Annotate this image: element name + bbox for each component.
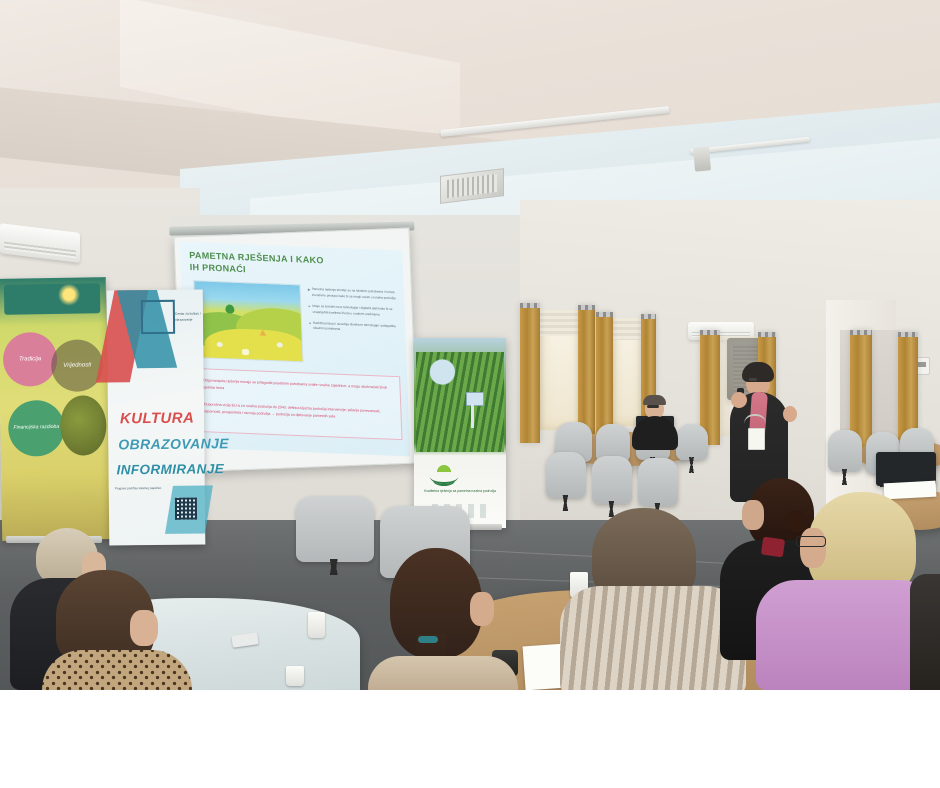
papers (884, 481, 937, 500)
banner-keyword: OBRAZOVANJE (118, 435, 229, 452)
chair[interactable] (828, 430, 862, 472)
slide-bullet: Mogu se koristiti nove tehnologije i dig… (308, 303, 397, 318)
projected-slide: PAMETNA RJEŠENJA I KAKO IH PRONAĆI Pamet… (180, 242, 410, 457)
lanyard (761, 537, 785, 558)
paper-cup (286, 666, 304, 686)
chair[interactable] (676, 424, 708, 460)
poster-blob: Financijska razdioba (8, 400, 65, 457)
hair-tie (418, 636, 438, 643)
audience-ponytail-body (368, 656, 518, 690)
banner-logo-sun-icon (428, 458, 460, 484)
poster-blob: Vrijednosti (51, 339, 104, 392)
banner-culture-education: Centar za kulturu i obrazovanje KULTURA … (107, 290, 206, 546)
footer-logo-strip: Nacionalna mreža ZPP-a (SU)F (0, 690, 940, 788)
audience-hair-bun (786, 510, 808, 532)
chair[interactable] (296, 496, 374, 562)
banner-keyword: KULTURA (120, 410, 194, 428)
audience-leopard-body (42, 650, 192, 690)
curtain (520, 303, 540, 443)
audience-leopard-face (130, 610, 158, 646)
qr-code-icon (175, 498, 197, 520)
slide-bullet-list: Pametna rješenja temelje se na lokalnim … (308, 287, 398, 341)
sensor-pole (471, 404, 474, 428)
illustration-icon (217, 342, 223, 347)
sensor-station-icon (466, 392, 484, 406)
slide-highlight-box: Odgovarajuća rješenja moraju se prilagod… (195, 368, 403, 440)
banner-org-name: Centar za kulturu i obrazovanje (175, 312, 201, 324)
slide-title: PAMETNA RJEŠENJA I KAKO IH PRONAĆI (189, 249, 330, 279)
screenshot-root: PAMETNA RJEŠENJA I KAKO IH PRONAĆI Pamet… (0, 0, 940, 788)
presenter-hand (783, 406, 797, 422)
audience-striped-body (560, 586, 746, 690)
banner-footnote: Program podrške lokalnoj zajednici (115, 486, 163, 492)
poster-photo-circle (60, 395, 107, 456)
illustration-tree-icon (225, 304, 234, 313)
lanyard (744, 414, 766, 432)
conference-room-photo: PAMETNA RJEŠENJA I KAKO IH PRONAĆI Pamet… (0, 0, 940, 690)
paper-cup (308, 612, 325, 638)
window-blind (540, 310, 582, 336)
slide-bullet: Pametna rješenja temelje se na lokalnim … (308, 287, 397, 302)
glasses-icon (647, 405, 659, 408)
poster-sun-icon (56, 281, 82, 307)
audience-ponytail-face (470, 592, 494, 626)
audience-blonde-glasses-face (800, 528, 826, 568)
chair[interactable] (592, 456, 632, 504)
ceiling-mount-bracket (693, 146, 711, 171)
banner-right-rollup: Kvalitetna rješenja za pametna ruralna p… (414, 338, 506, 528)
laptop-operator-hair (643, 395, 666, 405)
illustration-icon (242, 349, 249, 355)
slide-bullet: Različiti pristupi i suradnja dionika te… (309, 320, 398, 335)
chair-back-foreground (910, 574, 940, 690)
poster-blob: Tradicija (3, 332, 58, 387)
curtain (578, 305, 595, 437)
presenter-hair (742, 362, 774, 382)
slide-illustration (193, 280, 303, 362)
chair[interactable] (546, 452, 586, 498)
banner-caption: Kvalitetna rješenja za pametna ruralna p… (420, 488, 500, 494)
chair[interactable] (638, 458, 678, 506)
slide-highlight-bullet: Dugoročna vizija EU-a za ruralna područj… (204, 401, 395, 423)
audience-bun-face (742, 500, 764, 530)
poster-header-bar (4, 283, 101, 315)
poster-left: Tradicija Vrijednosti Financijska razdio… (0, 277, 110, 541)
illustration-icon (277, 342, 283, 347)
window-blind (613, 318, 643, 340)
banner-vineyard-photo (416, 352, 504, 452)
curtain (596, 312, 613, 438)
banner-logo-mark (141, 300, 175, 334)
presenter-glasses-icon (749, 378, 757, 381)
presenter-hand (731, 392, 747, 408)
glasses-icon (796, 536, 826, 547)
slide-highlight-bullet: Odgovarajuća rješenja moraju se prilagod… (203, 377, 394, 399)
banner-keyword: INFORMIRANJE (116, 461, 224, 477)
